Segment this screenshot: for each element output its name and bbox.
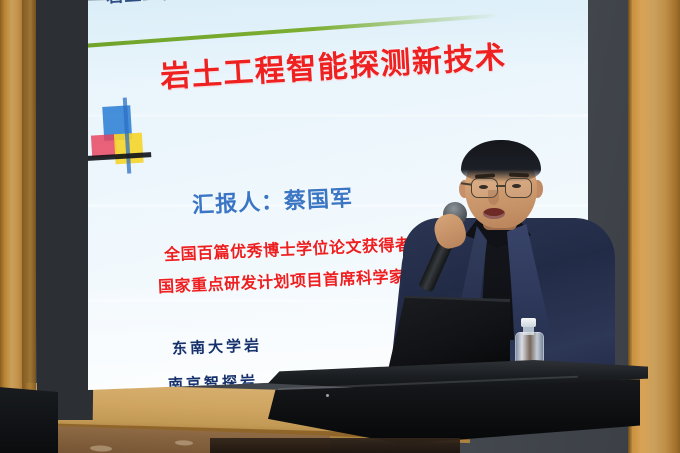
- presentation-photo-scene: 岩土工程 岩土工程智能探测新技术 汇报人：蔡国军 全国百篇优秀博士学位论文获得者…: [0, 0, 680, 453]
- bottle-cap: [521, 318, 536, 327]
- glasses-lens-right: [505, 178, 532, 198]
- slide-affiliation-1: 东南大学岩: [172, 334, 263, 358]
- podium-left-base: [0, 382, 58, 453]
- presenter-mouth: [483, 208, 505, 219]
- presenter-nose: [488, 190, 499, 205]
- left-wood-column-inner: [22, 0, 36, 420]
- podium-screw-dot: [326, 394, 329, 397]
- colored-squares-logo: [88, 96, 152, 176]
- presenter-hair: [461, 140, 541, 182]
- black-laptop: [388, 296, 510, 370]
- podium-lower-shelf: [210, 438, 460, 453]
- glasses-bridge: [496, 185, 505, 187]
